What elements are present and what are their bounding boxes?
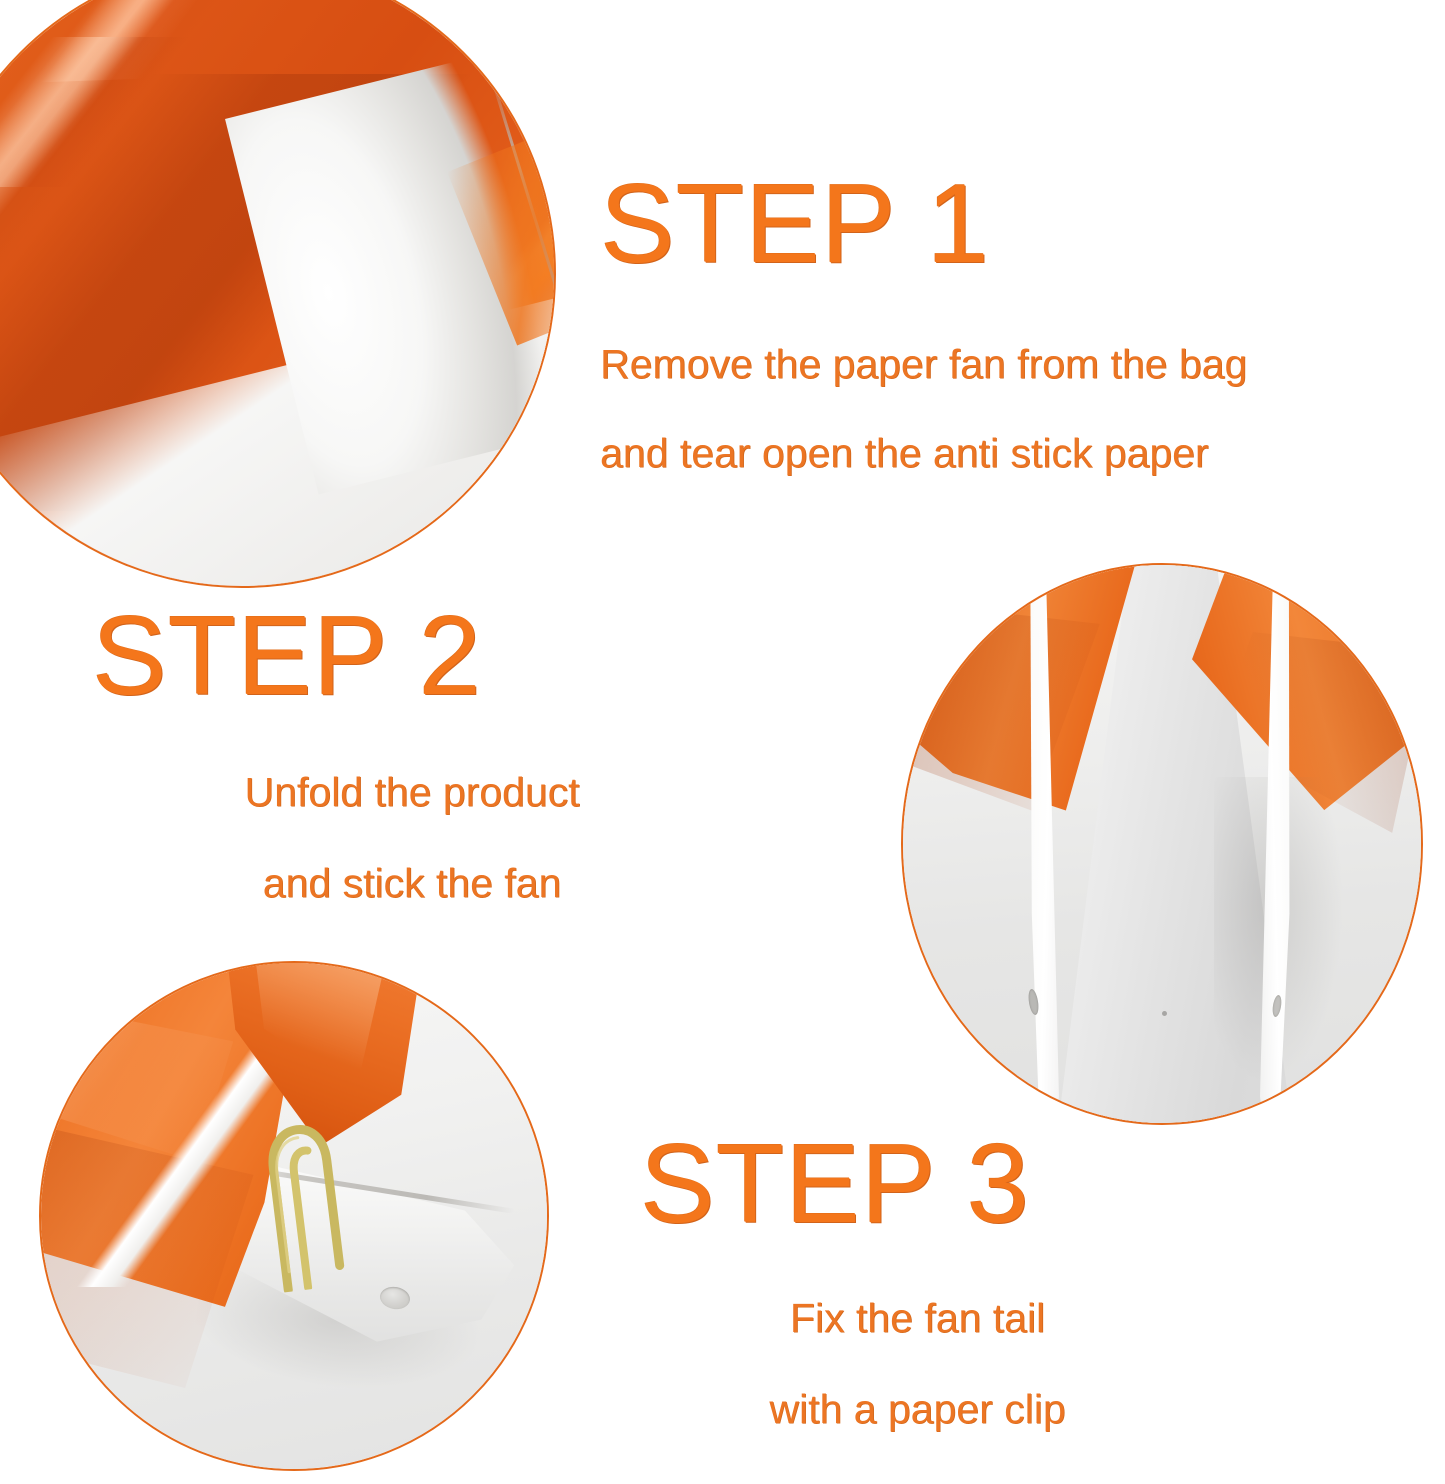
step-1-text-block: STEP 1 Remove the paper fan from the bag… (600, 168, 1247, 474)
step-2-text-block: STEP 2 Unfold the product and stick the … (92, 600, 732, 904)
step-3-photo-circle: Orange fan with white tail secured by a … (39, 961, 549, 1471)
step-3-photo (41, 963, 547, 1469)
step-1-photo-circle: Close up of orange folded paper fan with… (0, 0, 556, 588)
step-3-line-2: with a paper clip (640, 1389, 1195, 1430)
step-3-line-1: Fix the fan tail (640, 1298, 1195, 1339)
step-1-description: Remove the paper fan from the bag and te… (600, 344, 1247, 474)
step-2-photo-circle: Unfolded fan showing two white plastic r… (901, 563, 1423, 1125)
drop-shadow (1214, 777, 1390, 1089)
step-2-line-2: and stick the fan (92, 863, 732, 904)
step-2-photo (903, 565, 1421, 1123)
instruction-graphic-canvas: Close up of orange folded paper fan with… (0, 0, 1445, 1484)
step-1-line-2: and tear open the anti stick paper (600, 433, 1247, 474)
step-3-description: Fix the fan tail with a paper clip (640, 1298, 1195, 1430)
step-1-line-1: Remove the paper fan from the bag (600, 344, 1247, 385)
step-1-photo (0, 0, 554, 586)
step-1-heading: STEP 1 (600, 168, 1247, 280)
step-2-heading: STEP 2 (92, 600, 732, 712)
step-2-line-1: Unfold the product (92, 772, 732, 813)
step-2-description: Unfold the product and stick the fan (92, 772, 732, 904)
step-3-text-block: STEP 3 Fix the fan tail with a paper cli… (640, 1128, 1195, 1430)
step-3-heading: STEP 3 (640, 1128, 1195, 1240)
